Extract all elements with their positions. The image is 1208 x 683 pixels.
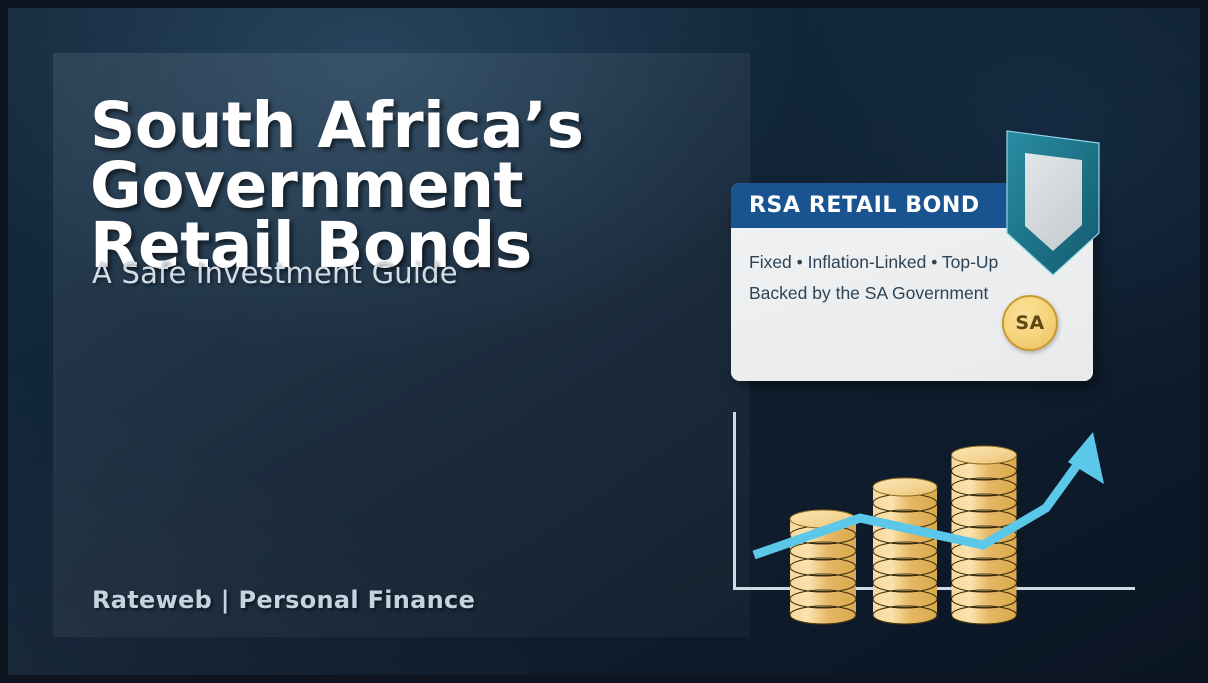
shield-icon xyxy=(1003,127,1103,279)
page-title-line-1: South Africa’s Government xyxy=(90,89,584,222)
page-title: South Africa’s Government Retail Bonds xyxy=(90,96,1000,276)
growth-chart xyxy=(708,398,1128,628)
page-subtitle: A Safe Investment Guide xyxy=(92,256,458,290)
coin-stacks-group xyxy=(708,398,1128,628)
poster-root: South Africa’s Government Retail Bonds A… xyxy=(0,0,1208,683)
poster-canvas: South Africa’s Government Retail Bonds A… xyxy=(8,8,1200,675)
brand-footer: Rateweb | Personal Finance xyxy=(92,586,475,614)
sa-coin-label: SA xyxy=(1015,312,1044,334)
sa-coin-badge: SA xyxy=(1002,295,1058,351)
